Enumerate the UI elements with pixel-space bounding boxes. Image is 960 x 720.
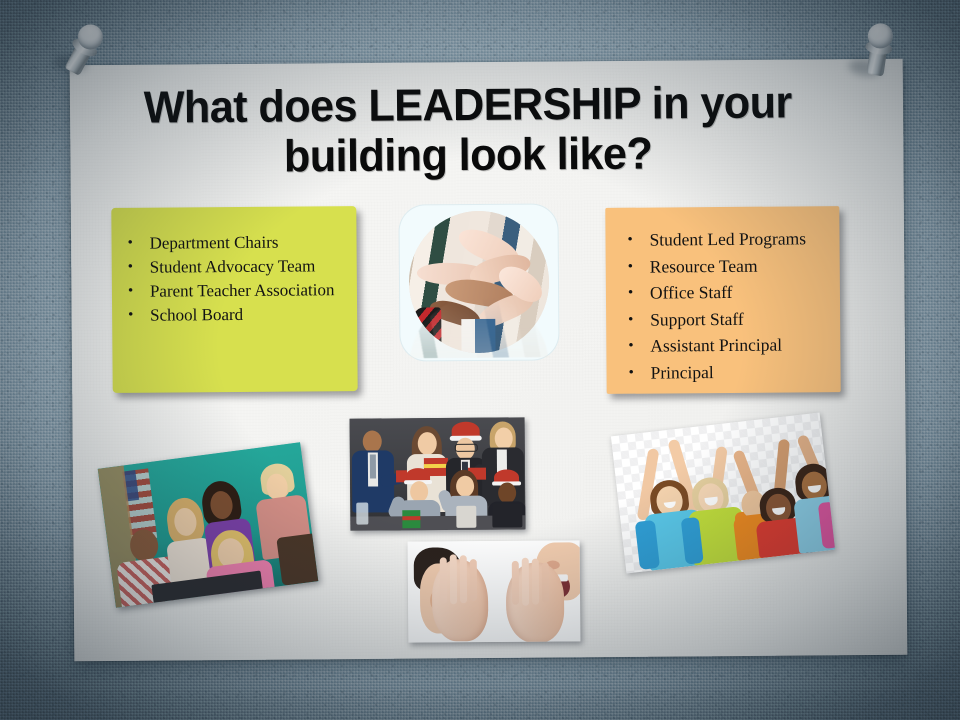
bullet-icon: • — [127, 232, 149, 255]
list-item-label: Office Staff — [650, 279, 832, 306]
list-item: • Assistant Principal — [628, 332, 832, 359]
bullet-icon: • — [627, 228, 649, 254]
right-roles-list: • Student Led Programs • Resource Team •… — [605, 206, 840, 386]
listening-speaking-hands-photo — [408, 540, 581, 642]
classroom-students-photo — [98, 442, 319, 607]
list-item: • Student Led Programs — [627, 226, 831, 253]
slide-canvas: What does LEADERSHIP in your building lo… — [0, 0, 960, 720]
bullet-icon: • — [628, 360, 650, 386]
list-item: • Principal — [628, 359, 832, 386]
bullet-icon: • — [128, 280, 150, 303]
office-team-holiday-photo — [350, 417, 526, 530]
list-item-label: Assistant Principal — [650, 332, 832, 359]
laptop-icon — [492, 503, 522, 527]
list-item-label: School Board — [150, 302, 349, 327]
bullet-icon: • — [628, 254, 650, 280]
list-item: • Support Staff — [628, 306, 832, 333]
list-item: • Student Advocacy Team — [128, 254, 349, 279]
bullet-icon: • — [628, 334, 650, 360]
list-item-label: Principal — [650, 359, 832, 386]
list-item-label: Support Staff — [650, 306, 832, 333]
page-title: What does LEADERSHIP in your building lo… — [124, 77, 811, 183]
list-item-label: Student Led Programs — [649, 226, 831, 253]
list-item: • Department Chairs — [127, 230, 348, 255]
bullet-icon: • — [128, 256, 150, 279]
children-cheering-photo — [611, 413, 835, 574]
hands-photo-reflection — [399, 293, 557, 358]
bullet-icon: • — [628, 281, 650, 307]
list-item-label: Parent Teacher Association — [150, 278, 349, 303]
left-roles-list: • Department Chairs • Student Advocacy T… — [111, 206, 357, 327]
left-roles-listbox: • Department Chairs • Student Advocacy T… — [111, 206, 357, 393]
list-item: • Parent Teacher Association — [128, 278, 349, 303]
top-right-pushpin — [848, 22, 918, 92]
santa-hat-icon — [456, 506, 476, 528]
list-item: • School Board — [128, 302, 349, 327]
list-item: • Resource Team — [628, 253, 832, 280]
bullet-icon: • — [128, 304, 150, 327]
glass-cup — [356, 503, 368, 525]
list-item-label: Student Advocacy Team — [150, 254, 349, 279]
list-item-label: Department Chairs — [149, 230, 348, 255]
bullet-icon: • — [628, 307, 650, 333]
right-roles-listbox: • Student Led Programs • Resource Team •… — [605, 206, 840, 394]
chair — [276, 533, 318, 586]
glasses-icon — [455, 444, 478, 452]
list-item-label: Resource Team — [650, 253, 832, 280]
list-item: • Office Staff — [628, 279, 832, 306]
